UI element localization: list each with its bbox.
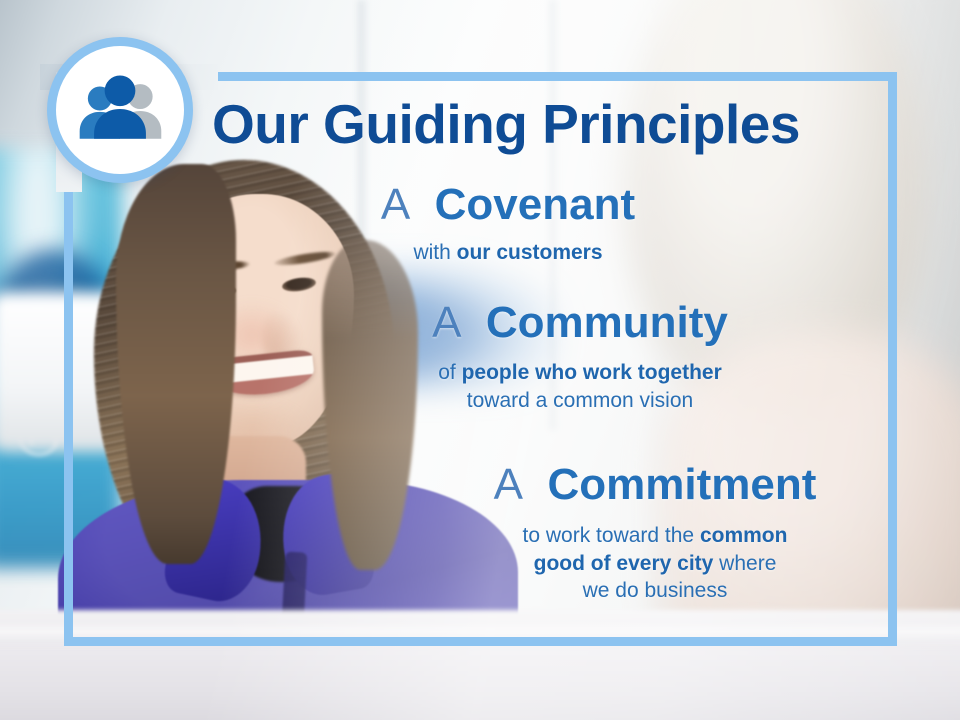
foreground-desk (0, 610, 960, 720)
people-badge (47, 37, 193, 183)
guiding-principles-graphic: FLOW FLOW Our Guiding Pri (0, 0, 960, 720)
desk-edge-highlight (0, 628, 960, 642)
people-group-icon (72, 62, 168, 158)
